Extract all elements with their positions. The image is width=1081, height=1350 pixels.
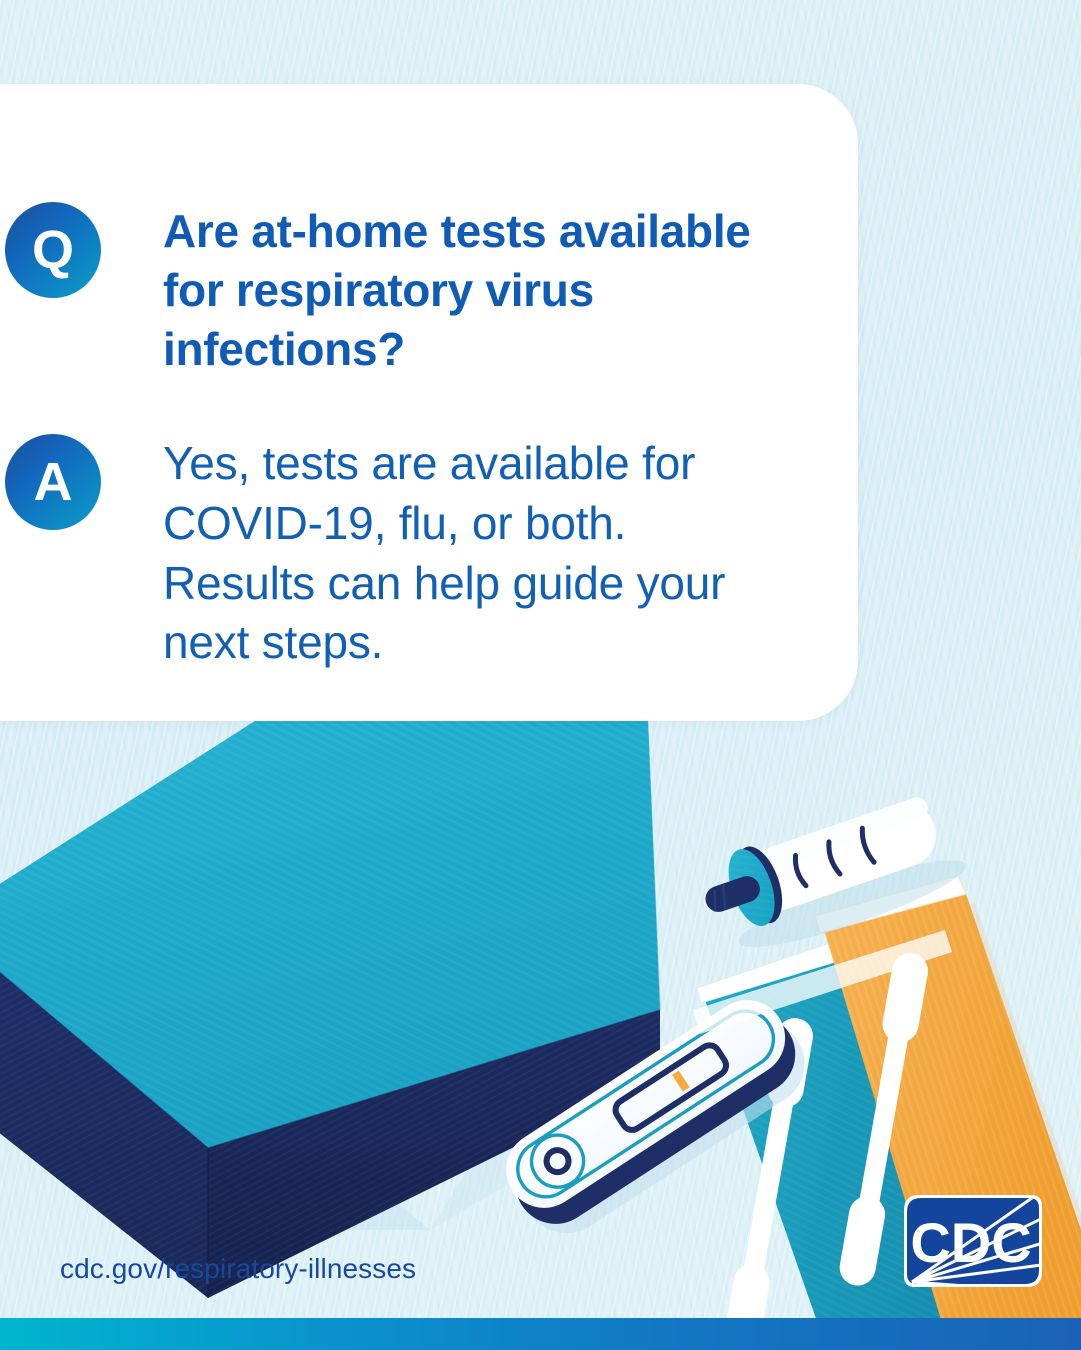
cdc-logo: CDC (899, 1192, 1045, 1291)
cdc-logo-text: CDC (910, 1211, 1031, 1274)
answer-row: A Yes, tests are available for COVID-19,… (5, 434, 748, 673)
poster-root: Q Are at-home tests available for respir… (0, 0, 1081, 1350)
question-text: Are at-home tests available for respirat… (163, 202, 773, 379)
footer-url[interactable]: cdc.gov/respiratory-illnesses (60, 1253, 416, 1285)
answer-text: Yes, tests are available for COVID-19, f… (163, 434, 748, 673)
qa-card: Q Are at-home tests available for respir… (0, 84, 858, 721)
answer-badge: A (5, 434, 101, 530)
question-row: Q Are at-home tests available for respir… (5, 202, 773, 379)
question-badge: Q (5, 202, 101, 298)
bottom-gradient-band (0, 1318, 1081, 1350)
